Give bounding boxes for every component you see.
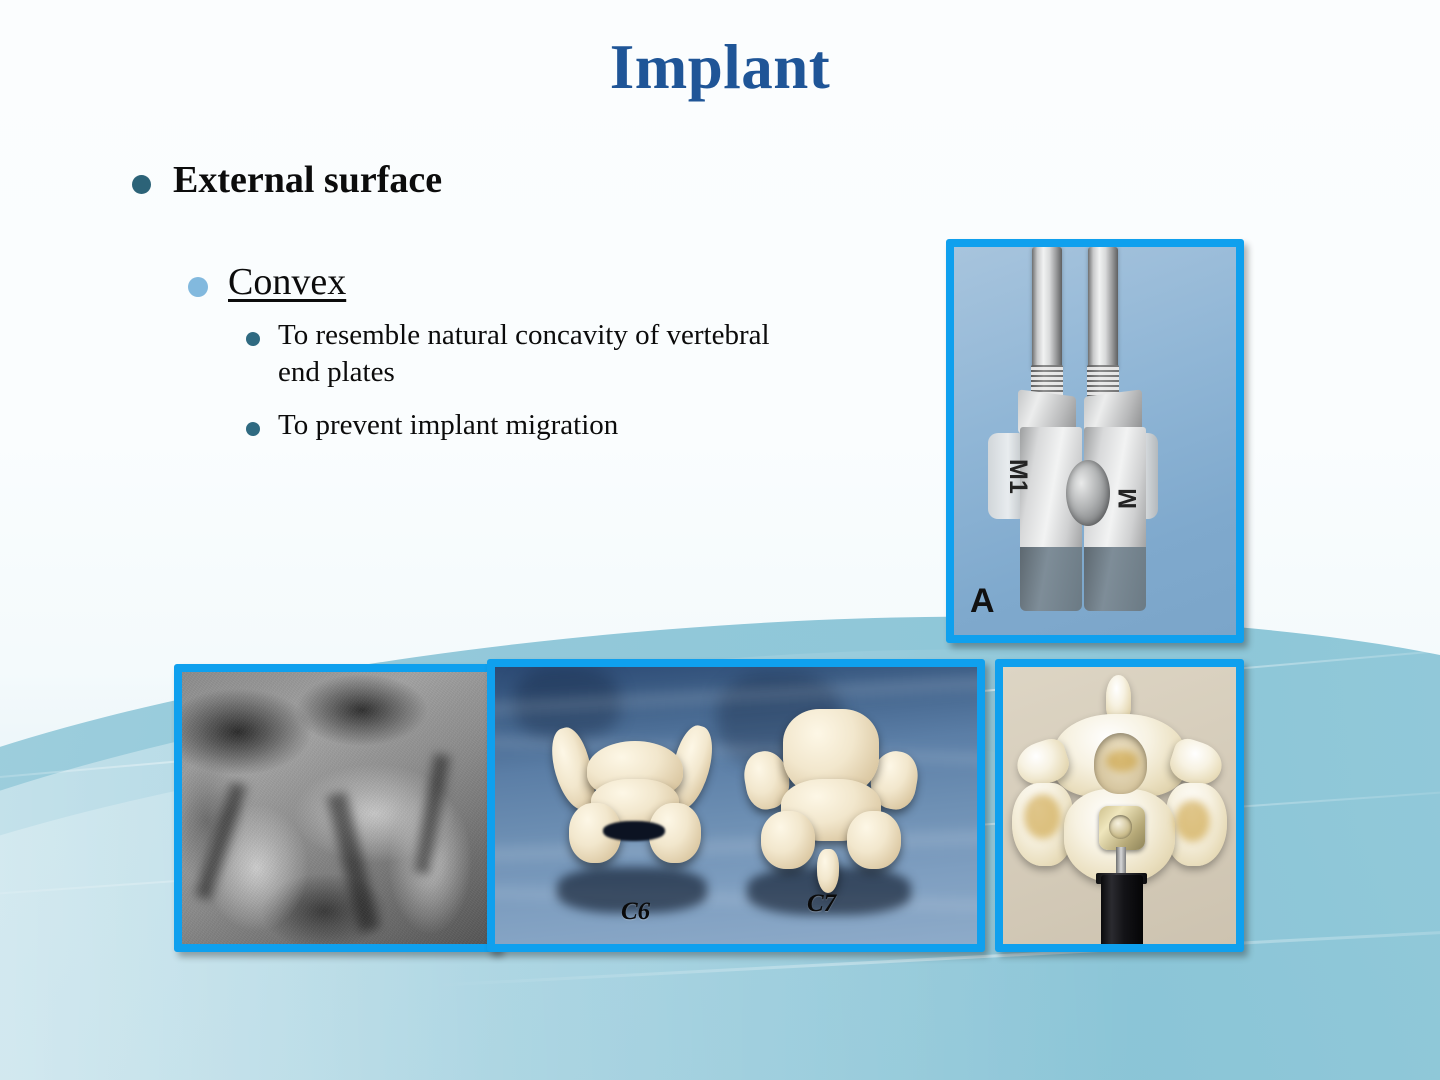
content-placeholder: External surface Convex To resemble natu…: [132, 158, 892, 444]
vertebra-implant-photo-content: [1003, 667, 1236, 944]
bullet-dot-icon: [188, 277, 208, 297]
c7-facet-left: [761, 811, 815, 869]
bullet-level3-item: To prevent implant migration: [246, 407, 892, 444]
bullet-level3-item: To resemble natural concavity of vertebr…: [246, 317, 892, 391]
bullet-level2-label: Convex: [228, 260, 346, 305]
bone-stain: [1024, 794, 1061, 838]
implant-disc-left-base: [1020, 547, 1082, 611]
image-implant-discs[interactable]: M1 M A: [946, 239, 1244, 643]
bullet-level2-convex: Convex: [188, 260, 892, 305]
convex-surface-highlight: [1066, 460, 1110, 526]
bone-stain: [1175, 800, 1210, 842]
bullet-level3-label: To prevent implant migration: [278, 407, 618, 444]
implant-disc-right-base: [1084, 547, 1146, 611]
bullet-level3-label: To resemble natural concavity of vertebr…: [278, 317, 818, 391]
bullet-dot-icon: [132, 175, 151, 194]
c6-canal-shadow: [603, 821, 665, 841]
bullet-level1-label: External surface: [173, 158, 442, 203]
c7-spinous-process: [817, 849, 839, 893]
radiograph-photo-content: [182, 672, 492, 944]
implant-marking-right: M: [1114, 488, 1143, 509]
image-c6-c7-vertebrae[interactable]: C6 C7: [487, 659, 985, 952]
implant-photo-content: M1 M A: [954, 247, 1236, 635]
slide-title: Implant: [0, 34, 1440, 100]
inserter-rod-right: [1088, 247, 1118, 371]
vertebra-label-c7: C7: [807, 890, 836, 918]
c7-facet-right: [847, 811, 901, 869]
image-vertebra-with-implant[interactable]: [995, 659, 1244, 952]
radiograph-grain-overlay: [182, 672, 492, 944]
vertebrae-photo-content: C6 C7: [495, 667, 977, 944]
image-bone-radiograph[interactable]: [174, 664, 500, 952]
bullet-dot-icon: [246, 422, 260, 436]
bullet-level3-group: To resemble natural concavity of vertebr…: [246, 317, 892, 444]
slide-canvas: Implant External surface Convex To resem…: [0, 0, 1440, 1080]
bullet-level1-external-surface: External surface: [132, 158, 892, 203]
implant-center-hole: [1109, 815, 1132, 839]
implant-marking-left: M1: [1003, 459, 1032, 494]
figure-label-a: A: [970, 582, 995, 621]
inserter-rod-left: [1032, 247, 1062, 371]
vertebra-label-c6: C6: [621, 898, 650, 926]
drape-fold: [495, 830, 977, 862]
mount-post: [1101, 875, 1143, 944]
bullet-dot-icon: [246, 332, 260, 346]
spinous-process-tip: [1106, 675, 1132, 719]
